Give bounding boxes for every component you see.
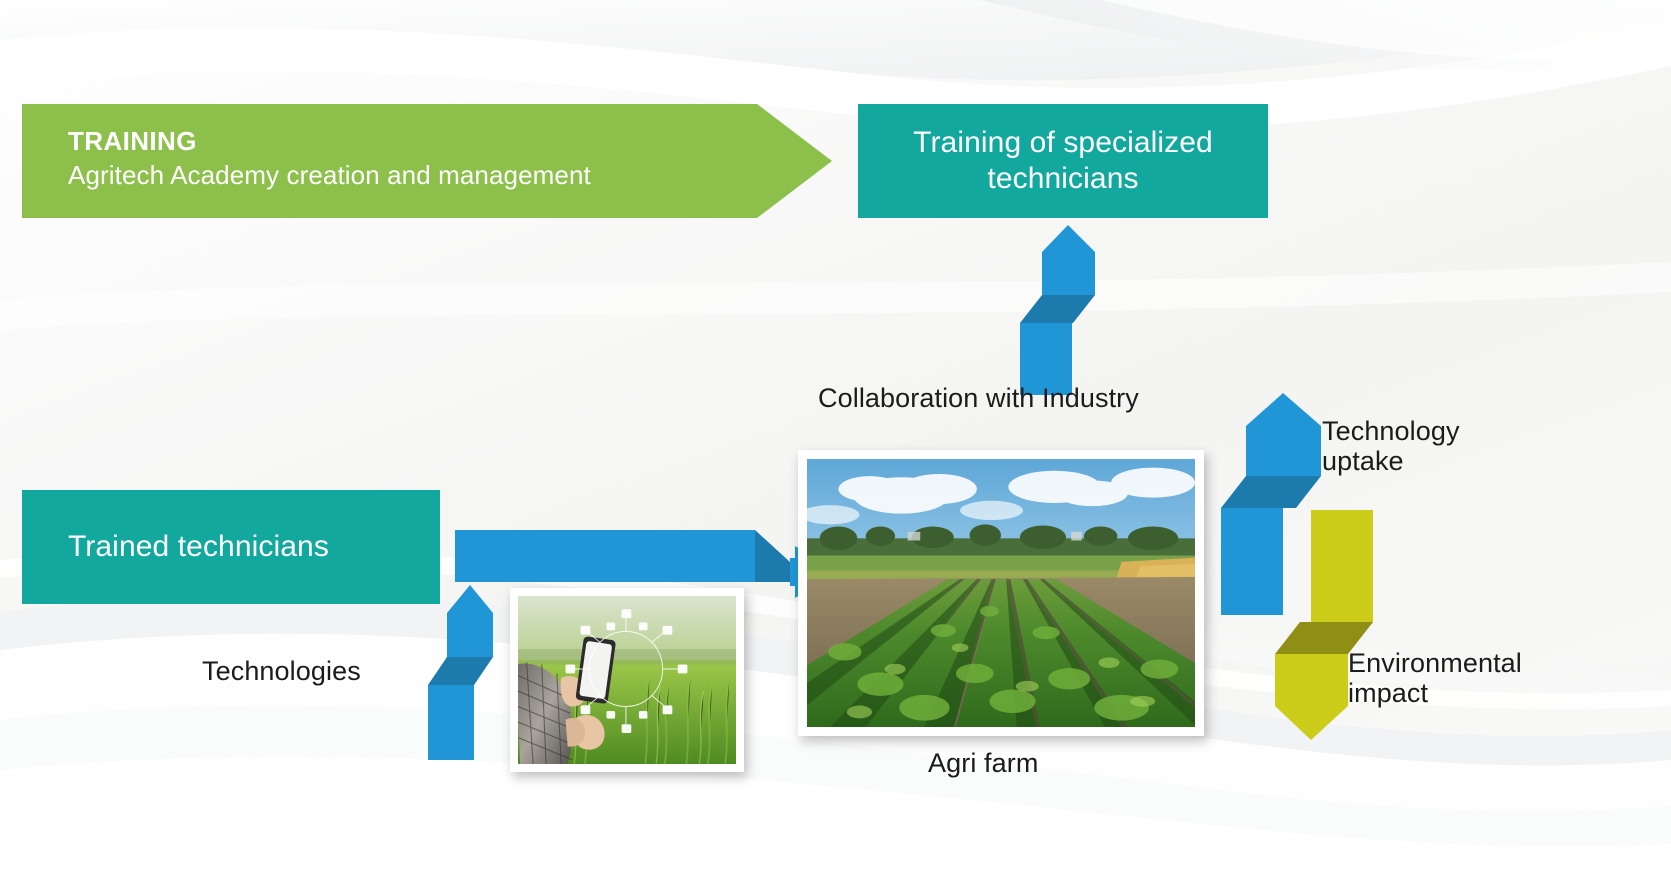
stepped-up-arrow-icon-collaboration [1020,225,1095,395]
label-collaboration-with-industry: Collaboration with Industry [818,383,1218,413]
banner-subtitle: Agritech Academy creation and management [68,159,832,192]
technology-uptake-line1: Technology [1322,416,1562,446]
label-environmental-impact: Environmental impact [1348,648,1608,708]
box-trained-label: Trained technicians [68,529,329,565]
environmental-impact-line2: impact [1348,678,1608,708]
label-technologies: Technologies [202,656,462,686]
label-agri-farm: Agri farm [928,748,1148,778]
photo-agri-farm [798,450,1204,736]
banner-kicker: TRAINING [68,126,832,157]
box-trained-technicians: Trained technicians [22,490,440,604]
environmental-impact-line1: Environmental [1348,648,1608,678]
box-training-of-specialized-technicians: Training of specialized technicians [858,104,1268,218]
training-banner: TRAINING Agritech Academy creation and m… [22,104,832,218]
diagram-canvas: TRAINING Agritech Academy creation and m… [0,0,1671,879]
photo-tablet-farmer [510,588,744,772]
box-specialized-label: Training of specialized technicians [876,125,1250,197]
label-technology-uptake: Technology uptake [1322,416,1562,476]
technology-uptake-line2: uptake [1322,446,1562,476]
